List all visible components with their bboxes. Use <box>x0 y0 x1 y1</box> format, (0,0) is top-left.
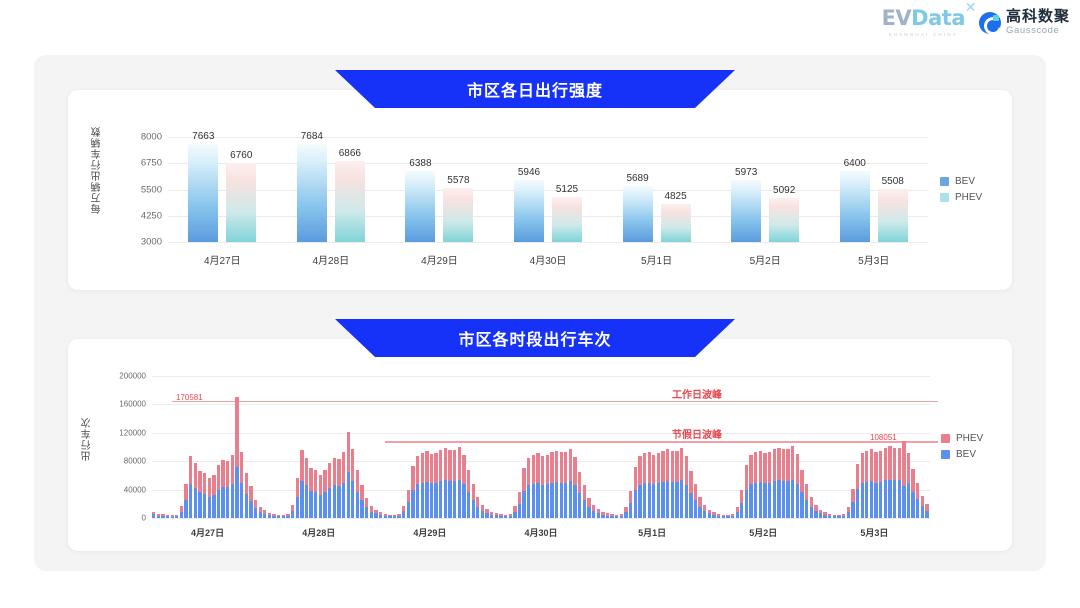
chart2-segment-bev <box>921 506 924 518</box>
chart2-segment-bev <box>722 516 725 518</box>
chart2-stacked-bar <box>328 463 331 518</box>
chart2-segment-bev <box>819 513 822 518</box>
chart2-y-tick: 160000 <box>94 400 146 409</box>
chart2-segment-bev <box>189 484 192 518</box>
chart2-stacked-bar <box>657 453 660 518</box>
chart2-stacked-bar <box>865 451 868 518</box>
chart2-segment-bev <box>717 516 720 518</box>
chart2-segment-bev <box>837 516 840 518</box>
chart2-segment-bev <box>254 508 257 518</box>
chart2-stacked-bar <box>916 483 919 519</box>
chart2-segment-phev <box>745 465 748 489</box>
chart2-segment-phev <box>235 397 238 467</box>
chart2-segment-phev <box>448 450 451 481</box>
chart1-value-label: 7663 <box>192 131 214 142</box>
chart2-stacked-bar <box>286 514 289 518</box>
chart2-segment-phev <box>819 510 822 514</box>
chart2-segment-bev <box>726 516 729 518</box>
chart1-legend-item-phev[interactable]: PHEV <box>940 192 982 203</box>
chart1-y-tick: 3000 <box>116 237 162 248</box>
chart2-segment-phev <box>712 512 715 515</box>
chart1-bar-bev: 6388 <box>405 171 435 242</box>
chart2-stacked-bar <box>347 432 350 518</box>
chart2-stacked-bar <box>898 448 901 518</box>
chart2-segment-phev <box>434 453 437 483</box>
chart2-segment-phev <box>518 492 521 504</box>
chart2-stacked-bar <box>319 475 322 518</box>
chart2-segment-bev <box>374 513 377 518</box>
chart2-stacked-bar <box>393 515 396 518</box>
chart2-segment-bev <box>745 490 748 518</box>
chart2-segment-bev <box>342 483 345 519</box>
chart2-segment-phev <box>268 513 271 515</box>
chart2-segment-bev <box>916 499 919 518</box>
chart2-stacked-bar <box>921 496 924 518</box>
chart2-segment-phev <box>856 464 859 489</box>
chart2-segment-bev <box>768 483 771 519</box>
chart2-segment-bev <box>870 481 873 518</box>
chart1-value-label: 5125 <box>556 184 578 195</box>
chart2-plot-area <box>152 376 930 518</box>
chart2-segment-phev <box>902 441 905 485</box>
chart2-segment-bev <box>671 482 674 518</box>
chart2-segment-phev <box>842 514 845 516</box>
chart2-stacked-bar <box>212 475 215 518</box>
chart2-segment-bev <box>309 491 312 518</box>
chart2-segment-phev <box>703 505 706 511</box>
chart2-segment-bev <box>546 484 549 518</box>
chart2-segment-bev <box>555 482 558 518</box>
chart2-segment-bev <box>759 482 762 518</box>
chart2-segment-phev <box>411 466 414 489</box>
chart2-segment-phev <box>481 505 484 511</box>
chart2-segment-phev <box>198 471 201 492</box>
chart2-stacked-bar <box>277 515 280 518</box>
chart2-segment-bev <box>786 481 789 518</box>
chart1-bar-bev: 7684 <box>297 144 327 242</box>
chart1-value-label: 4825 <box>664 191 686 202</box>
section-title-banner-2: 市区各时段出行车次 <box>335 319 735 357</box>
chart2-x-tick: 4月27日 <box>191 526 224 539</box>
chart2-segment-phev <box>407 490 410 503</box>
chart2-stacked-bar <box>388 515 391 518</box>
chart2-segment-bev <box>448 481 451 518</box>
chart1-bar-phev: 5125 <box>552 197 582 242</box>
chart2-segment-bev <box>925 511 928 518</box>
chart2-stacked-bar <box>217 465 220 518</box>
chart2-segment-phev <box>828 514 831 516</box>
chart2-stacked-bar <box>856 464 859 518</box>
chart2-segment-bev <box>560 483 563 519</box>
chart2-segment-phev <box>347 432 350 472</box>
chart2-stacked-bar <box>448 450 451 518</box>
chart2-stacked-bar <box>703 505 706 518</box>
chart2-segment-bev <box>402 511 405 518</box>
chart1-x-tick: 4月30日 <box>530 252 567 267</box>
chart2-stacked-bar <box>272 514 275 518</box>
chart2-segment-phev <box>536 453 539 483</box>
chart2-segment-phev <box>263 510 266 514</box>
chart2-segment-bev <box>439 481 442 518</box>
chart2-stacked-bar <box>481 505 484 518</box>
chart2-segment-phev <box>249 486 252 501</box>
chart2-segment-phev <box>643 453 646 483</box>
chart2-segment-bev <box>347 472 350 518</box>
chart2-stacked-bar <box>189 456 192 518</box>
chart2-segment-phev <box>717 514 720 516</box>
chart2-stacked-bar <box>791 446 794 518</box>
chart2-segment-phev <box>157 514 160 516</box>
chart2-legend-item-bev[interactable]: BEV <box>941 449 983 460</box>
chart2-segment-bev <box>434 483 437 519</box>
chart2-segment-phev <box>161 514 164 516</box>
chart2-x-tick: 4月28日 <box>302 526 335 539</box>
chart2-stacked-bar <box>522 468 525 518</box>
chart2-stacked-bar <box>513 506 516 518</box>
chart2-segment-bev <box>740 503 743 518</box>
chart1-y-tick: 6750 <box>116 158 162 169</box>
chart2-stacked-bar <box>819 510 822 518</box>
legend-swatch-bev <box>940 177 949 186</box>
chart2-stacked-bar <box>305 458 308 518</box>
chart2-segment-bev <box>481 511 484 518</box>
chart2-stacked-bar <box>648 452 651 518</box>
chart2-segment-bev <box>712 515 715 518</box>
chart2-y-tick: 120000 <box>94 428 146 437</box>
chart2-stacked-bar <box>842 514 845 518</box>
chart2-segment-bev <box>277 516 280 518</box>
chart2-segment-bev <box>421 483 424 519</box>
chart2-peak-bar <box>235 397 238 518</box>
chart2-stacked-bar <box>629 491 632 518</box>
chart2-segment-phev <box>291 505 294 511</box>
chart2-stacked-bar <box>384 514 387 518</box>
chart2-segment-phev <box>444 448 447 480</box>
chart2-segment-bev <box>513 512 516 518</box>
chart2-peak-bar <box>902 441 905 518</box>
chart1-bar-group: 59735092 <box>731 137 799 242</box>
chart2-segment-bev <box>300 481 303 518</box>
chart2-stacked-bar <box>337 459 340 518</box>
chart2-stacked-bar <box>689 471 692 518</box>
chart2-segment-bev <box>194 488 197 518</box>
chart2-stacked-bar <box>245 473 248 518</box>
chart2-segment-bev <box>805 500 808 518</box>
chart2-segment-phev <box>759 451 762 482</box>
chart2-segment-bev <box>388 516 391 518</box>
chart2-segment-phev <box>578 472 581 493</box>
chart2-segment-bev <box>634 490 637 518</box>
chart2-segment-phev <box>680 448 683 481</box>
chart2-segment-phev <box>499 514 502 516</box>
chart2-segment-phev <box>884 448 887 481</box>
chart2-segment-bev <box>221 487 224 518</box>
chart2-segment-phev <box>708 510 711 514</box>
chart2-segment-bev <box>323 492 326 518</box>
chart2-segment-phev <box>740 490 743 503</box>
chart2-segment-bev <box>898 480 901 518</box>
chart2-segment-bev <box>152 514 155 518</box>
chart2-segment-bev <box>268 515 271 518</box>
chart2-stacked-bar <box>777 448 780 518</box>
chart2-segment-bev <box>800 492 803 518</box>
chart2-stacked-bar <box>675 451 678 518</box>
chart2-segment-bev <box>601 515 604 518</box>
chart2-stacked-bar <box>249 486 252 518</box>
chart2-stacked-bar <box>749 455 752 518</box>
chart2-stacked-bar <box>323 470 326 518</box>
chart2-segment-phev <box>314 470 317 492</box>
chart2-segment-bev <box>360 500 363 518</box>
chart2-segment-phev <box>921 496 924 506</box>
chart2-segment-phev <box>504 515 507 517</box>
chart2-segment-phev <box>300 450 303 481</box>
chart2-stacked-bar <box>597 509 600 518</box>
chart2-segment-bev <box>763 483 766 518</box>
chart2-stacked-bar <box>671 451 674 518</box>
chart2-segment-phev <box>337 459 340 486</box>
header-logos: EVData✕ SHANGHAI CHINA 高科数聚 Gausscode <box>882 8 1070 37</box>
chart2-segment-phev <box>694 484 697 499</box>
chart2-segment-bev <box>522 491 525 518</box>
chart1-x-tick: 5月3日 <box>858 252 889 267</box>
chart2-stacked-bar <box>240 452 243 518</box>
chart1-bar-group: 76636760 <box>188 137 256 242</box>
chart2-segment-bev <box>615 516 618 518</box>
chart2-segment-bev <box>610 516 613 518</box>
chart2-segment-bev <box>245 494 248 518</box>
chart2-segment-bev <box>833 516 836 518</box>
chart2-stacked-bar <box>175 515 178 518</box>
chart1-bar-bev: 6400 <box>840 171 870 242</box>
chart2-legend: PHEVBEV <box>941 433 983 460</box>
chart1-legend: BEVPHEV <box>940 176 982 203</box>
chart2-segment-phev <box>569 449 572 481</box>
chart1-legend-item-bev[interactable]: BEV <box>940 176 982 187</box>
chart2-segment-bev <box>578 493 581 518</box>
gausscode-mark-icon <box>979 12 1001 34</box>
chart2-segment-phev <box>527 458 530 486</box>
chart2-y-tick: 0 <box>94 514 146 523</box>
chart2-segment-bev <box>407 502 410 518</box>
chart2-segment-phev <box>254 500 257 509</box>
chart2-stacked-bar <box>541 456 544 518</box>
legend-label: BEV <box>955 176 975 187</box>
chart2-segment-phev <box>601 512 604 515</box>
chart2-segment-bev <box>791 480 794 518</box>
chart2-segment-phev <box>546 455 549 484</box>
chart2-stacked-bar <box>888 446 891 518</box>
chart2-segment-bev <box>907 483 910 518</box>
chart2-segment-phev <box>550 452 553 483</box>
chart2-stacked-bar <box>527 458 530 518</box>
chart2-stacked-bar <box>416 456 419 518</box>
chart2-stacked-bar <box>583 485 586 518</box>
chart2-stacked-bar <box>680 448 683 518</box>
chart2-segment-bev <box>485 513 488 518</box>
chart1-y-tick: 5500 <box>116 184 162 195</box>
chart2-segment-phev <box>421 453 424 483</box>
section-title-banner-1: 市区各日出行强度 <box>335 70 735 108</box>
chart2-segment-bev <box>796 484 799 518</box>
legend-swatch-phev <box>940 193 949 202</box>
chart2-stacked-bar <box>685 456 688 518</box>
chart2-segment-phev <box>277 515 280 516</box>
gausscode-cn-text: 高科数聚 <box>1006 9 1070 24</box>
chart2-segment-phev <box>874 452 877 483</box>
chart2-stacked-bar <box>805 484 808 518</box>
chart2-segment-bev <box>272 516 275 518</box>
chart2-segment-phev <box>731 514 734 516</box>
chart2-segment-bev <box>430 483 433 518</box>
chart2-segment-phev <box>573 457 576 485</box>
chart2-segment-bev <box>685 485 688 518</box>
chart2-segment-bev <box>203 494 206 518</box>
chart2-stacked-bar <box>643 453 646 518</box>
legend-label: PHEV <box>956 433 983 444</box>
chart2-stacked-bar <box>851 489 854 518</box>
chart2-segment-bev <box>314 492 317 518</box>
chart2-stacked-bar <box>800 470 803 518</box>
chart2-segment-phev <box>532 455 535 484</box>
chart2-segment-bev <box>472 500 475 518</box>
chart2-segment-bev <box>851 502 854 518</box>
chart2-segment-phev <box>194 463 197 489</box>
chart2-segment-bev <box>694 500 697 518</box>
chart2-segment-bev <box>259 512 262 518</box>
chart2-segment-phev <box>509 514 512 516</box>
chart2-segment-phev <box>476 497 479 507</box>
chart2-gridline <box>152 518 930 519</box>
chart2-segment-bev <box>648 483 651 519</box>
chart2-stacked-bar <box>397 514 400 518</box>
chart2-segment-phev <box>430 454 433 483</box>
chart1-value-label: 6400 <box>844 158 866 169</box>
chart2-segment-bev <box>226 487 229 518</box>
evdata-data-text: Data <box>911 6 965 30</box>
chart2-segment-phev <box>629 491 632 503</box>
chart2-segment-bev <box>884 480 887 518</box>
chart1-value-label: 5946 <box>518 167 540 178</box>
chart2-stacked-bar <box>365 498 368 518</box>
chart2-segment-phev <box>597 509 600 513</box>
chart2-segment-phev <box>467 470 470 492</box>
chart2-segment-bev <box>527 485 530 518</box>
chart2-segment-bev <box>467 492 470 518</box>
chart2-stacked-bar <box>708 509 711 518</box>
evdata-x-icon: ✕ <box>965 1 976 15</box>
chart2-stacked-bar <box>870 449 873 518</box>
chart2-stacked-bar <box>374 509 377 518</box>
chart2-segment-phev <box>379 512 382 515</box>
chart2-segment-phev <box>286 514 289 516</box>
chart2-x-tick: 5月2日 <box>749 526 777 539</box>
chart1-bar-bev: 7663 <box>188 144 218 242</box>
chart2-segment-phev <box>722 515 725 517</box>
chart2-stacked-bar <box>578 472 581 518</box>
chart1-value-label: 5973 <box>735 167 757 178</box>
chart2-segment-bev <box>698 507 701 518</box>
chart2-stacked-bar <box>661 451 664 518</box>
chart2-stacked-bar <box>495 513 498 518</box>
chart2-segment-bev <box>444 480 447 518</box>
chart2-segment-phev <box>203 473 206 494</box>
chart2-segment-phev <box>773 449 776 481</box>
chart2-segment-bev <box>777 480 780 518</box>
chart2-segment-phev <box>259 507 262 512</box>
chart2-segment-bev <box>536 483 539 518</box>
chart2-segment-bev <box>865 482 868 518</box>
chart2-legend-item-phev[interactable]: PHEV <box>941 433 983 444</box>
chart2-stacked-bar <box>736 507 739 518</box>
chart2-x-tick: 5月3日 <box>860 526 888 539</box>
chart1-bar-group: 63885578 <box>405 137 473 242</box>
chart2-segment-phev <box>736 507 739 512</box>
chart2-stacked-bar <box>620 514 623 518</box>
chart2-segment-bev <box>249 501 252 518</box>
chart2-segment-bev <box>629 503 632 518</box>
chart1-value-label: 6760 <box>230 150 252 161</box>
chart2-segment-phev <box>425 451 428 482</box>
chart2-segment-phev <box>384 514 387 516</box>
chart2-segment-phev <box>221 460 224 487</box>
chart2-stacked-bar <box>768 452 771 518</box>
chart2-segment-bev <box>231 484 234 518</box>
chart2-stacked-bar <box>342 452 345 518</box>
chart2-stacked-bar <box>485 509 488 518</box>
chart2-stacked-bar <box>731 514 734 518</box>
chart2-segment-bev <box>319 495 322 518</box>
chart2-segment-phev <box>847 507 850 512</box>
chart2-y-tick: 200000 <box>94 372 146 381</box>
chart2-segment-phev <box>175 515 178 517</box>
chart2-segment-phev <box>610 514 613 516</box>
chart2-segment-phev <box>652 455 655 484</box>
chart2-segment-bev <box>217 490 220 518</box>
chart2-segment-bev <box>597 513 600 518</box>
chart2-segment-phev <box>661 451 664 482</box>
chart2-segment-bev <box>305 485 308 518</box>
chart2-stacked-bar <box>161 514 164 518</box>
chart2-stacked-bar <box>740 490 743 518</box>
chart2-segment-bev <box>490 515 493 518</box>
chart2-segment-bev <box>495 515 498 518</box>
chart2-segment-phev <box>305 458 308 486</box>
chart2-stacked-bar <box>254 500 257 518</box>
chart2-stacked-bar <box>726 515 729 518</box>
chart2-segment-bev <box>754 483 757 519</box>
chart2-segment-phev <box>458 447 461 480</box>
chart2-segment-bev <box>911 492 914 518</box>
chart2-segment-bev <box>736 512 739 518</box>
chart2-segment-phev <box>810 497 813 507</box>
chart2-segment-phev <box>837 515 840 516</box>
chart2-stacked-bar <box>698 497 701 518</box>
chart2-stacked-bar <box>509 514 512 518</box>
chart2-stacked-bar <box>907 453 910 518</box>
chart2-segment-phev <box>898 448 901 481</box>
chart2-stacked-bar <box>694 484 697 518</box>
chart2-segment-phev <box>851 489 854 502</box>
chart1-bar-phev: 5092 <box>769 198 799 242</box>
chart2-segment-phev <box>823 512 826 514</box>
chart2-segment-bev <box>208 497 211 518</box>
chart2-segment-bev <box>296 497 299 518</box>
chart2-segment-bev <box>499 516 502 518</box>
chart2-stacked-bar <box>796 454 799 518</box>
chart2-segment-bev <box>828 516 831 518</box>
chart2-segment-bev <box>847 512 850 518</box>
